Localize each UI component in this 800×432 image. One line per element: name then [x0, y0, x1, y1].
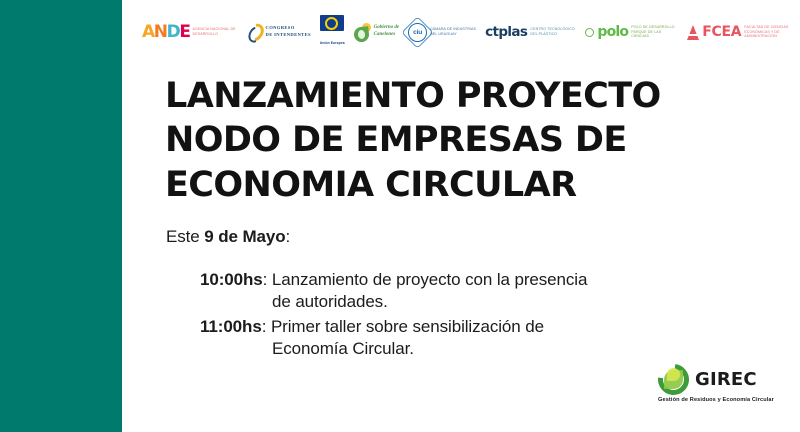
logo-canelones-line2: Canelones [374, 32, 396, 37]
polo-dot-icon [585, 28, 594, 37]
event-date-line: Este 9 de Mayo: [166, 227, 290, 247]
logo-congreso-line1: Congreso [266, 25, 295, 30]
event-date-prefix: Este [166, 227, 204, 246]
logo-eu-caption: Unión Europea [320, 41, 345, 45]
schedule-text: Primer taller sobre sensibilización de [271, 317, 544, 336]
girec-tagline: Gestión de Residuos y Economía Circular [658, 397, 774, 403]
page-title-line-1: LANZAMIENTO PROYECTO [165, 74, 765, 118]
logo-ctplas-caption: Centro Tecnológico del Plástico [530, 27, 576, 36]
logo-ctplas: ctplas Centro Tecnológico del Plástico [485, 16, 576, 48]
partner-logo-strip: ANDE Agencia Nacional de Desarrollo Cong… [142, 14, 788, 50]
logo-congreso-text: Congreso de Intendentes [266, 25, 311, 38]
logo-gobierno-de-canelones: Gobierno de Canelones [354, 16, 399, 48]
logo-polo-caption: Polo de Desarrollo Parque de las Ciencia… [631, 25, 677, 39]
ctplas-wordmark-icon: ctplas [485, 24, 527, 40]
decorative-side-bar [0, 0, 122, 432]
event-date-suffix: : [286, 227, 291, 246]
schedule-time: 11:00hs [200, 317, 262, 336]
schedule-list: 10:00hs: Lanzamiento de proyecto con la … [200, 269, 730, 363]
logo-ande-caption: Agencia Nacional de Desarrollo [193, 27, 239, 36]
schedule-item: 10:00hs: Lanzamiento de proyecto con la … [200, 269, 730, 314]
logo-congreso-de-intendentes: Congreso de Intendentes [248, 16, 311, 48]
recycle-circle-icon [658, 364, 689, 395]
fcea-wordmark-icon: FCEA [702, 24, 741, 40]
crescent-icon [248, 23, 263, 42]
eu-flag-wrap: Unión Europea [320, 15, 345, 49]
page-title-line-3: ECONOMIA CIRCULAR [165, 163, 765, 207]
logo-fcea: FCEA Facultad de Ciencias Económicas y d… [686, 16, 790, 48]
logo-ande: ANDE Agencia Nacional de Desarrollo [142, 16, 239, 48]
fcea-triangle-icon [686, 25, 699, 40]
schedule-text: Lanzamiento de proyecto con la presencia [272, 270, 587, 289]
schedule-text-continuation: de autoridades. [200, 291, 730, 313]
polo-wordmark-icon: polo [597, 24, 628, 40]
schedule-text-continuation: Economía Circular. [200, 338, 730, 360]
ande-wordmark-icon: ANDE [142, 24, 190, 41]
page-title: LANZAMIENTO PROYECTO NODO DE EMPRESAS DE… [165, 74, 765, 207]
logo-fcea-caption: Facultad de Ciencias Económicas y de Adm… [744, 25, 790, 39]
event-date-value: 9 de Mayo [204, 227, 285, 246]
girec-wordmark: GIREC [695, 369, 757, 390]
logo-camara-de-industrias: ciu Cámara de Industrias del Uruguay [408, 16, 476, 48]
schedule-time: 10:00hs [200, 270, 263, 289]
logo-congreso-line2: de Intendentes [266, 32, 311, 37]
logo-ciu-caption: Cámara de Industrias del Uruguay [430, 27, 476, 36]
ciu-badge-icon: ciu [408, 23, 427, 42]
girec-logo: GIREC Gestión de Residuos y Economía Cir… [658, 364, 790, 403]
logo-canelones-text: Gobierno de Canelones [374, 25, 399, 39]
eu-flag-icon [320, 15, 344, 31]
schedule-separator: : [262, 317, 271, 336]
logo-polo: polo Polo de Desarrollo Parque de las Ci… [585, 16, 677, 48]
schedule-item: 11:00hs: Primer taller sobre sensibiliza… [200, 316, 730, 361]
schedule-separator: : [263, 270, 272, 289]
girec-logo-row: GIREC [658, 364, 757, 395]
logo-union-europea: Unión Europea [320, 16, 345, 48]
person-sun-icon [354, 23, 371, 42]
logo-canelones-line1: Gobierno de [374, 25, 399, 30]
page-title-line-2: NODO DE EMPRESAS DE [165, 118, 765, 162]
